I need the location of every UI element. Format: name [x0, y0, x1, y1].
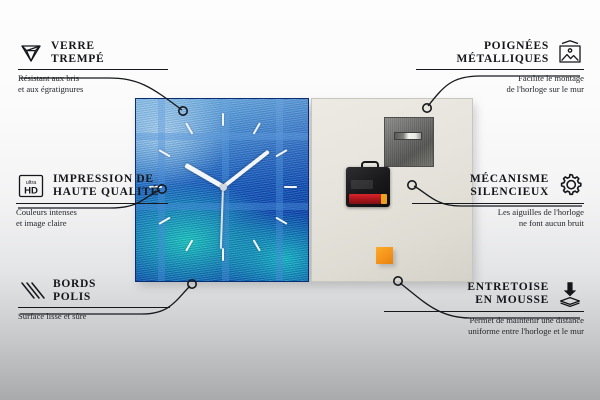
callout-desc-line2: ne font aucun bruit	[412, 218, 584, 229]
callout-desc-line1: Les aiguilles de l'horloge	[412, 207, 584, 218]
callout-desc-line1: Permet de maintenir une distance	[384, 315, 584, 326]
callout-title: BORDS POLIS	[53, 278, 96, 304]
callout-desc-line1: Résistant aux bris	[18, 73, 168, 84]
callout-poignees-metalliques: POIGNÉES MÉTALLIQUES Facilite le montage…	[416, 40, 584, 94]
hour-hand	[184, 163, 225, 189]
battery	[349, 194, 383, 204]
hour-marker	[284, 186, 297, 188]
gear-icon	[556, 172, 584, 200]
callout-entretoise-en-mousse: ENTRETOISE EN MOUSSE Permet de maintenir…	[384, 280, 584, 336]
callout-desc-line1: Facilite le montage	[416, 73, 584, 84]
hanger-slot	[394, 132, 422, 140]
callout-header: POIGNÉES MÉTALLIQUES	[416, 40, 584, 66]
hour-marker	[253, 239, 261, 251]
callout-bords-polis: BORDS POLIS Surface lisse et sûre	[18, 278, 168, 322]
wall-mount-icon	[556, 40, 584, 66]
hands-cap	[220, 184, 227, 191]
callout-desc-line2: et aux égratignures	[18, 84, 168, 95]
movement-label	[351, 180, 373, 189]
callout-desc-line1: Couleurs intenses	[16, 207, 172, 218]
callout-rule	[412, 203, 584, 204]
callout-rule	[416, 69, 584, 70]
metal-hanger-plate	[384, 117, 434, 167]
callout-title: ENTRETOISE EN MOUSSE	[467, 281, 549, 307]
callout-title: IMPRESSION DE HAUTE QUALITÉ	[53, 173, 159, 199]
callout-desc-line2: de l'horloge sur le mur	[416, 84, 584, 95]
callout-title: MÉCANISME SILENCIEUX	[470, 173, 549, 199]
callout-rule	[384, 311, 584, 312]
callout-verre-trempe: VERRE TREMPÉ Résistant aux bris et aux é…	[18, 40, 168, 94]
callout-mecanisme-silencieux: MÉCANISME SILENCIEUX Les aiguilles de l'…	[412, 172, 584, 228]
infographic-canvas: VERRE TREMPÉ Résistant aux bris et aux é…	[0, 0, 600, 400]
callout-title: POIGNÉES MÉTALLIQUES	[457, 40, 549, 66]
polished-edge-icon	[18, 279, 46, 303]
foam-spacer-icon	[556, 280, 584, 308]
callout-title: VERRE TREMPÉ	[51, 40, 104, 66]
print-grid-line	[276, 99, 283, 281]
callout-rule	[18, 307, 170, 308]
quartz-movement	[346, 161, 390, 207]
print-grid-line	[136, 133, 308, 140]
callout-desc-line2: et image claire	[16, 218, 172, 229]
battery-terminal	[381, 194, 387, 204]
callout-header: BORDS POLIS	[18, 278, 168, 304]
callout-header: MÉCANISME SILENCIEUX	[412, 172, 584, 200]
callout-header: VERRE TREMPÉ	[18, 40, 168, 66]
hour-marker	[222, 248, 224, 261]
callout-rule	[16, 203, 168, 204]
callout-desc-line1: Surface lisse et sûre	[18, 311, 168, 322]
svg-text:HD: HD	[24, 185, 38, 196]
callout-header: ultra HD IMPRESSION DE HAUTE QUALITÉ	[16, 172, 172, 200]
foam-spacer	[376, 247, 393, 264]
diamond-icon	[18, 41, 44, 65]
hour-marker	[185, 239, 193, 251]
hour-marker	[222, 113, 224, 126]
callout-desc-line2: uniforme entre l'horloge et le mur	[384, 326, 584, 337]
callout-rule	[18, 69, 168, 70]
callout-impression-haute-qualite: ultra HD IMPRESSION DE HAUTE QUALITÉ Cou…	[16, 172, 172, 228]
movement-body	[346, 167, 390, 207]
callout-header: ENTRETOISE EN MOUSSE	[384, 280, 584, 308]
ultra-hd-icon: ultra HD	[16, 172, 46, 200]
